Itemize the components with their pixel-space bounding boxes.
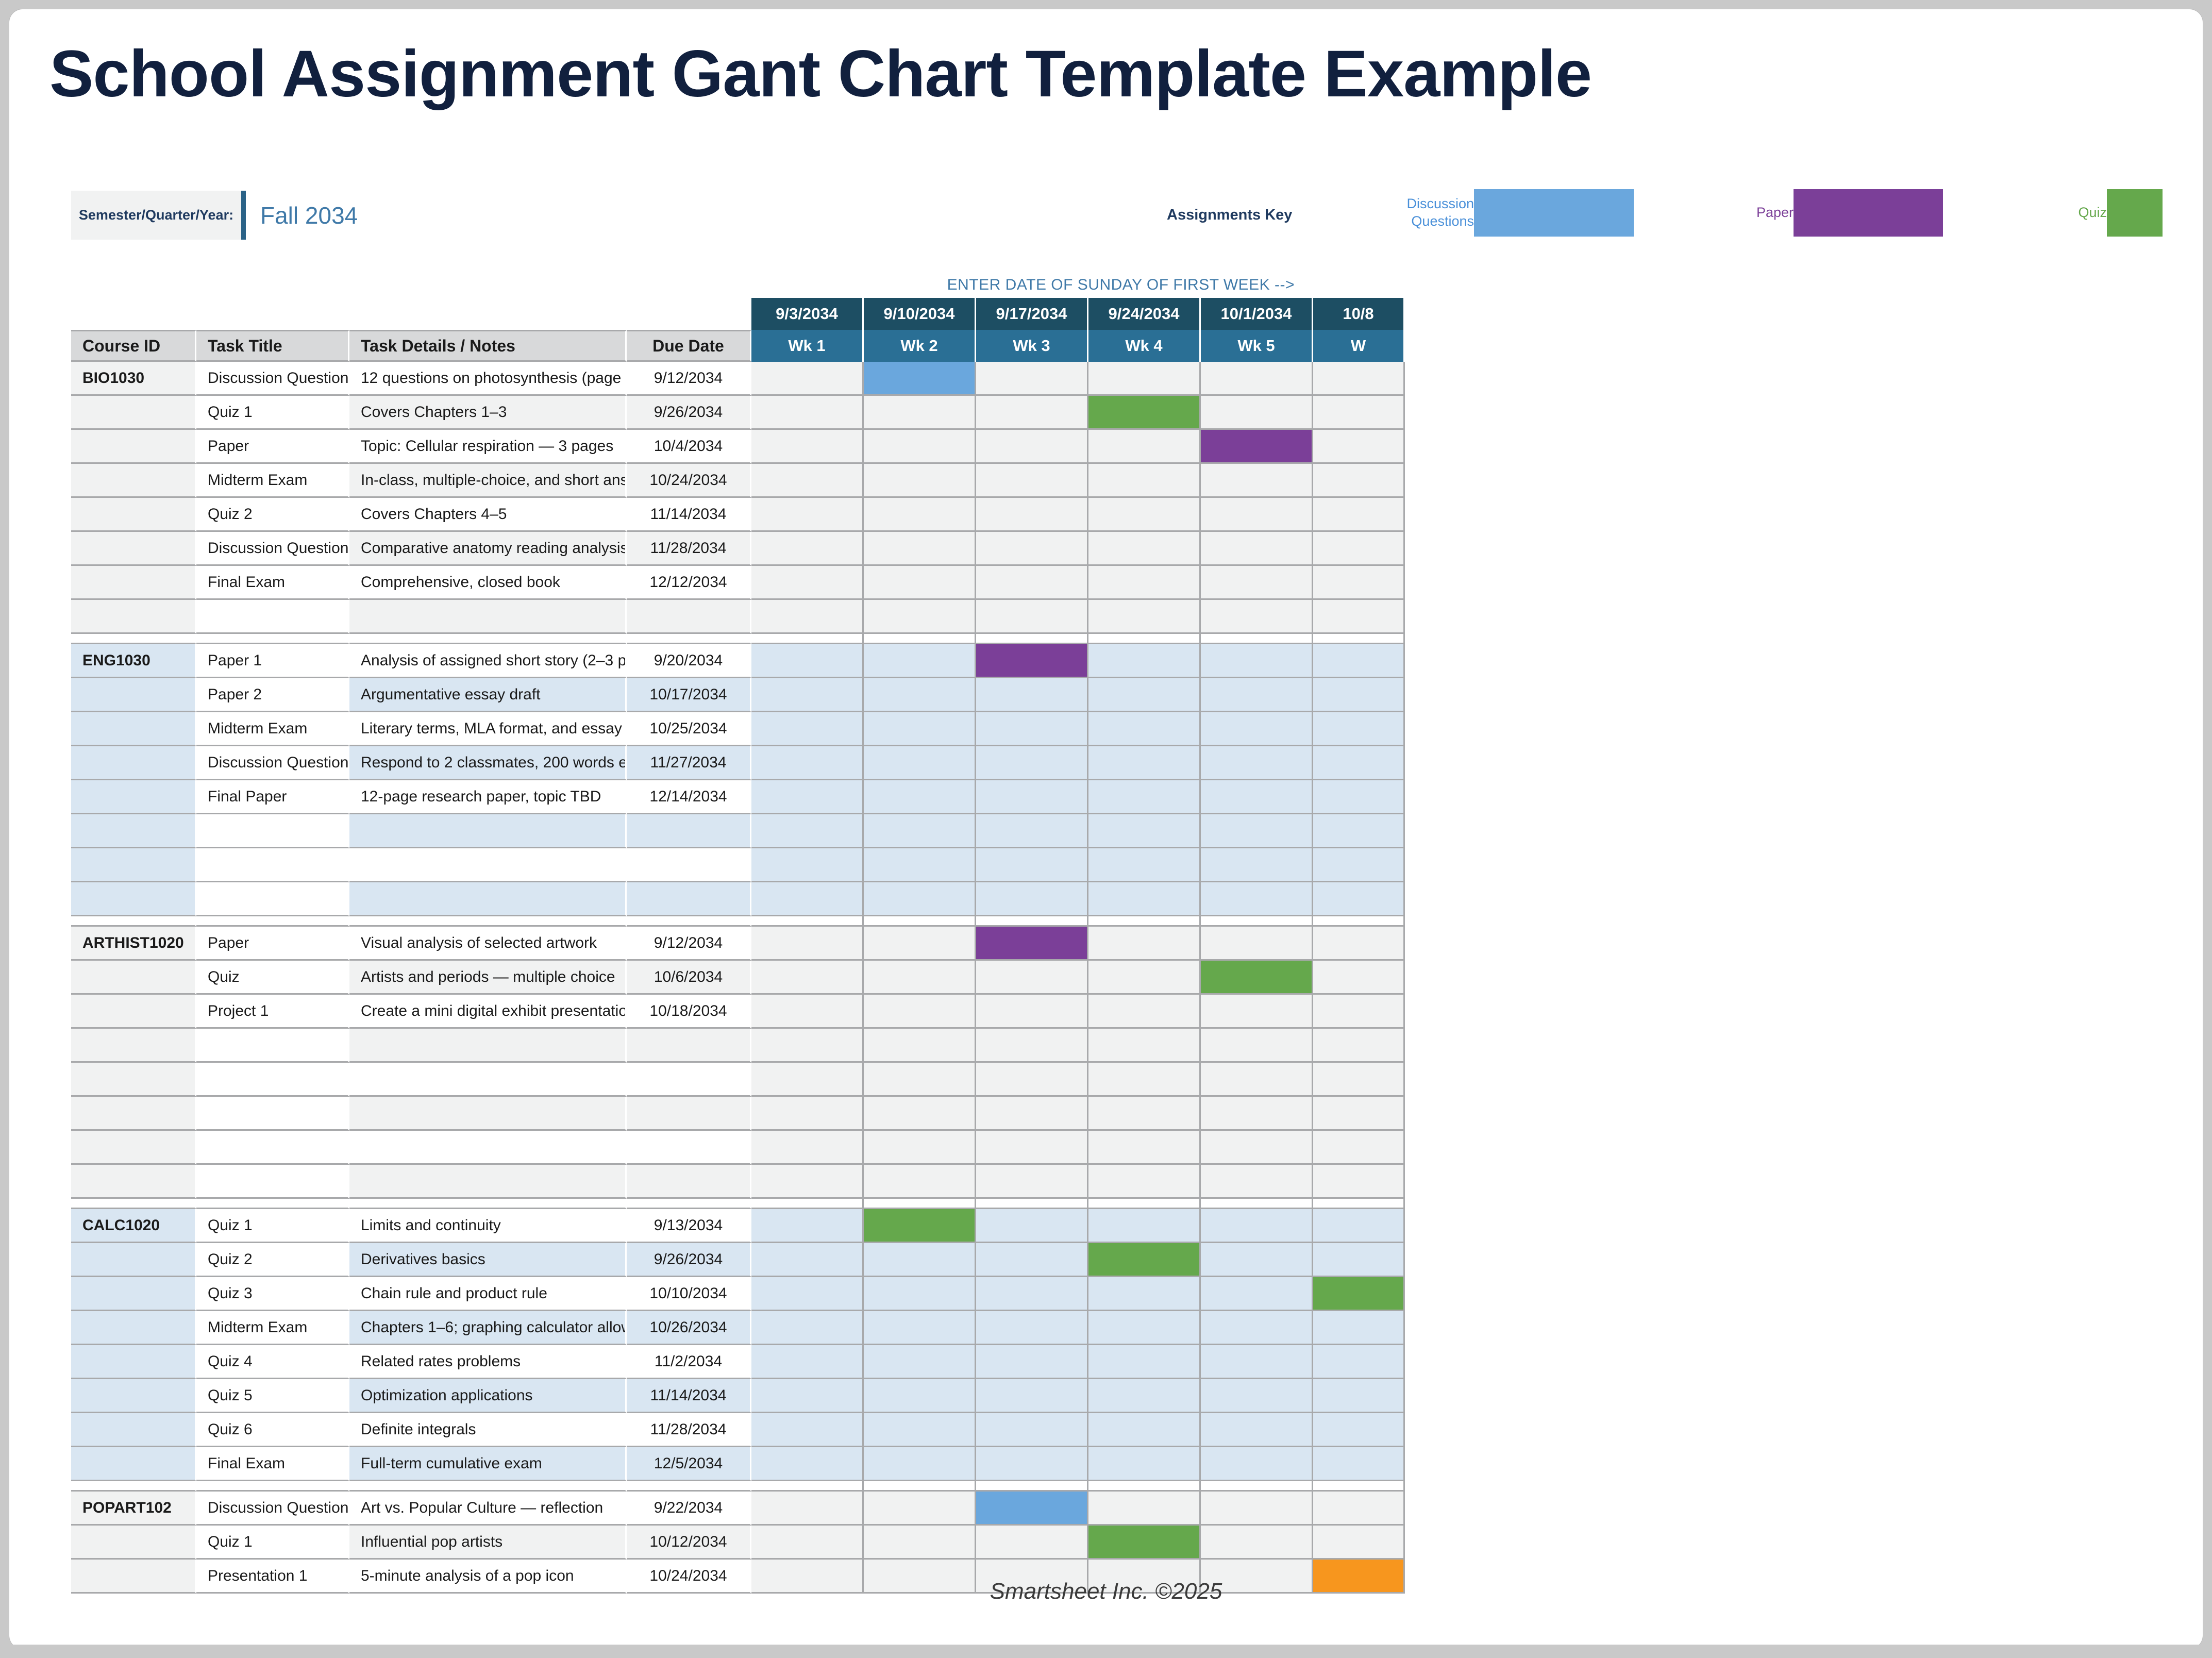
week-date-header: 10/8 bbox=[1313, 298, 1405, 330]
cell-course-id bbox=[71, 1447, 196, 1481]
gantt-cell bbox=[976, 1447, 1088, 1481]
page-bottom-bar bbox=[0, 1645, 2212, 1658]
gantt-cell bbox=[1313, 1345, 1405, 1379]
gantt-cell bbox=[1313, 1311, 1405, 1345]
gantt-cell bbox=[864, 780, 976, 814]
cell-course-id bbox=[71, 1029, 196, 1063]
table-row: POPART102Discussion QuestionsArt vs. Pop… bbox=[71, 1492, 2170, 1526]
gantt-cell bbox=[1088, 1063, 1201, 1097]
semester-label: Semester/Quarter/Year: bbox=[79, 207, 233, 223]
gantt-cell bbox=[864, 362, 976, 396]
cell-due-date: 11/2/2034 bbox=[627, 1345, 751, 1379]
gantt-cell bbox=[976, 362, 1088, 396]
legend-item-quiz: Quiz bbox=[2050, 185, 2163, 241]
group-separator bbox=[71, 1481, 2170, 1492]
gantt-cell bbox=[1313, 927, 1405, 961]
gantt-cell bbox=[1313, 1097, 1405, 1131]
cell-due-date: 9/13/2034 bbox=[627, 1209, 751, 1243]
gantt-cell bbox=[976, 995, 1088, 1029]
table-row: Paper 2Argumentative essay draft10/17/20… bbox=[71, 678, 2170, 712]
cell-due-date: 11/14/2034 bbox=[627, 498, 751, 532]
gantt-cell bbox=[1313, 1379, 1405, 1413]
table-row bbox=[71, 882, 2170, 916]
cell-due-date bbox=[627, 600, 751, 634]
gantt-cell bbox=[1201, 566, 1313, 600]
gantt-cell bbox=[1201, 1379, 1313, 1413]
cell-due-date: 10/10/2034 bbox=[627, 1277, 751, 1311]
gantt-cell bbox=[1201, 1243, 1313, 1277]
gantt-cell bbox=[1088, 712, 1201, 746]
week-number-header: Wk 1 bbox=[751, 330, 864, 362]
table-row: Final ExamFull-term cumulative exam12/5/… bbox=[71, 1447, 2170, 1481]
semester-value[interactable]: Fall 2034 bbox=[260, 191, 358, 240]
gantt-cell bbox=[864, 712, 976, 746]
gantt-cell bbox=[1201, 678, 1313, 712]
table-row: Discussion QuestionsComparative anatomy … bbox=[71, 532, 2170, 566]
table-row bbox=[71, 1165, 2170, 1199]
gantt-cell bbox=[1201, 1209, 1313, 1243]
cell-task-title bbox=[196, 1097, 349, 1131]
gantt-cell bbox=[864, 464, 976, 498]
cell-course-id: CALC1020 bbox=[71, 1209, 196, 1243]
cell-task-details bbox=[349, 1165, 627, 1199]
cell-due-date: 11/28/2034 bbox=[627, 532, 751, 566]
gantt-cell bbox=[864, 396, 976, 430]
cell-task-title: Paper 1 bbox=[196, 644, 349, 678]
gantt-cell bbox=[1201, 780, 1313, 814]
gantt-cell bbox=[1088, 1277, 1201, 1311]
gantt-cell bbox=[1201, 882, 1313, 916]
cell-course-id: POPART102 bbox=[71, 1492, 196, 1526]
gantt-cell bbox=[976, 1209, 1088, 1243]
gantt-cell bbox=[976, 678, 1088, 712]
cell-due-date bbox=[627, 1063, 751, 1097]
table-row: BIO1030Discussion Questions12 questions … bbox=[71, 362, 2170, 396]
gantt-cell bbox=[1088, 1379, 1201, 1413]
cell-task-details bbox=[349, 882, 627, 916]
gantt-bar-quiz bbox=[1088, 396, 1199, 428]
gantt-cell bbox=[1313, 678, 1405, 712]
cell-task-details bbox=[349, 1097, 627, 1131]
gantt-bar-paper bbox=[1201, 430, 1312, 462]
gantt-cell bbox=[864, 566, 976, 600]
gantt-cell bbox=[1313, 746, 1405, 780]
gantt-cell bbox=[751, 961, 864, 995]
legend-swatch-quiz bbox=[2107, 189, 2163, 237]
gantt-cell bbox=[751, 1131, 864, 1165]
cell-due-date: 10/6/2034 bbox=[627, 961, 751, 995]
gantt-cell bbox=[1313, 1029, 1405, 1063]
gantt-cell bbox=[1088, 1447, 1201, 1481]
cell-task-details: Respond to 2 classmates, 200 words each bbox=[349, 746, 627, 780]
gantt-cell bbox=[864, 1526, 976, 1560]
gantt-cell bbox=[1201, 430, 1313, 464]
column-header-course-id: Course ID bbox=[71, 330, 196, 362]
week-date-header: 9/10/2034 bbox=[864, 298, 976, 330]
cell-due-date bbox=[627, 1029, 751, 1063]
cell-course-id bbox=[71, 814, 196, 848]
gantt-cell bbox=[864, 678, 976, 712]
gantt-cell bbox=[1201, 995, 1313, 1029]
cell-task-title: Quiz 2 bbox=[196, 1243, 349, 1277]
page-title: School Assignment Gant Chart Template Ex… bbox=[49, 36, 1591, 112]
gantt-cell bbox=[1313, 1413, 1405, 1447]
gantt-cell bbox=[976, 1131, 1088, 1165]
gantt-cell bbox=[751, 1277, 864, 1311]
cell-task-title: Paper 2 bbox=[196, 678, 349, 712]
cell-task-title: Paper bbox=[196, 927, 349, 961]
gantt-cell bbox=[1201, 1447, 1313, 1481]
cell-course-id bbox=[71, 1097, 196, 1131]
gantt-cell bbox=[1088, 644, 1201, 678]
cell-task-title: Discussion Questions bbox=[196, 362, 349, 396]
gantt-cell bbox=[1313, 644, 1405, 678]
gantt-cell bbox=[1313, 498, 1405, 532]
cell-task-details: Topic: Cellular respiration — 3 pages bbox=[349, 430, 627, 464]
gantt-cell bbox=[1313, 1492, 1405, 1526]
gantt-cell bbox=[864, 848, 976, 882]
gantt-cell bbox=[751, 1526, 864, 1560]
cell-course-id bbox=[71, 780, 196, 814]
cell-due-date: 10/24/2034 bbox=[627, 464, 751, 498]
gantt-cell bbox=[1201, 1029, 1313, 1063]
gantt-cell bbox=[1088, 927, 1201, 961]
gantt-cell bbox=[751, 678, 864, 712]
cell-course-id bbox=[71, 1277, 196, 1311]
cell-task-title: Final Exam bbox=[196, 566, 349, 600]
gantt-cell bbox=[1201, 1097, 1313, 1131]
gantt-cell bbox=[1313, 814, 1405, 848]
gantt-cell bbox=[751, 1492, 864, 1526]
gantt-cell bbox=[1313, 1277, 1405, 1311]
cell-task-details: Limits and continuity bbox=[349, 1209, 627, 1243]
gantt-cell bbox=[976, 1277, 1088, 1311]
cell-due-date bbox=[627, 848, 751, 882]
cell-task-title: Quiz 3 bbox=[196, 1277, 349, 1311]
cell-due-date: 12/14/2034 bbox=[627, 780, 751, 814]
gantt-cell bbox=[976, 1097, 1088, 1131]
cell-task-details: Related rates problems bbox=[349, 1345, 627, 1379]
gantt-cell bbox=[864, 1097, 976, 1131]
gantt-cell bbox=[976, 1165, 1088, 1199]
cell-task-details: Full-term cumulative exam bbox=[349, 1447, 627, 1481]
cell-task-details: Analysis of assigned short story (2–3 pa… bbox=[349, 644, 627, 678]
cell-due-date: 11/27/2034 bbox=[627, 746, 751, 780]
table-row: Quiz 2Covers Chapters 4–511/14/2034 bbox=[71, 498, 2170, 532]
table-row bbox=[71, 848, 2170, 882]
cell-task-details: Optimization applications bbox=[349, 1379, 627, 1413]
gantt-cell bbox=[1313, 848, 1405, 882]
gantt-bar-quiz bbox=[1088, 1243, 1199, 1276]
gantt-cell bbox=[1088, 498, 1201, 532]
gantt-cell bbox=[864, 532, 976, 566]
gantt-cell bbox=[1201, 1413, 1313, 1447]
gantt-cell bbox=[976, 1379, 1088, 1413]
table-row: Discussion QuestionsRespond to 2 classma… bbox=[71, 746, 2170, 780]
cell-task-details: Definite integrals bbox=[349, 1413, 627, 1447]
table-row bbox=[71, 1029, 2170, 1063]
gantt-cell bbox=[976, 1243, 1088, 1277]
cell-task-details: Art vs. Popular Culture — reflection bbox=[349, 1492, 627, 1526]
table-row: Quiz 6Definite integrals11/28/2034 bbox=[71, 1413, 2170, 1447]
cell-course-id bbox=[71, 396, 196, 430]
gantt-cell bbox=[751, 1447, 864, 1481]
footer-credit: Smartsheet Inc. ©2025 bbox=[9, 1579, 2203, 1604]
gantt-cell bbox=[1088, 1243, 1201, 1277]
gantt-cell bbox=[1088, 961, 1201, 995]
legend-label: Discussion Questions bbox=[1376, 195, 1474, 230]
gantt-cell bbox=[976, 566, 1088, 600]
cell-task-title: Discussion Questions bbox=[196, 746, 349, 780]
cell-course-id bbox=[71, 1526, 196, 1560]
legend-label: Paper bbox=[1716, 204, 1794, 222]
cell-task-title: Midterm Exam bbox=[196, 712, 349, 746]
gantt-cell bbox=[1088, 1097, 1201, 1131]
gantt-cell bbox=[751, 464, 864, 498]
gantt-cell bbox=[751, 396, 864, 430]
cell-task-title: Quiz 1 bbox=[196, 1209, 349, 1243]
cell-task-details bbox=[349, 1131, 627, 1165]
cell-course-id bbox=[71, 532, 196, 566]
legend-item-discussion-questions: Discussion Questions bbox=[1376, 185, 1634, 241]
cell-task-title bbox=[196, 600, 349, 634]
cell-task-details: Covers Chapters 4–5 bbox=[349, 498, 627, 532]
cell-course-id bbox=[71, 1243, 196, 1277]
gantt-cell bbox=[864, 1311, 976, 1345]
table-row: ARTHIST1020PaperVisual analysis of selec… bbox=[71, 927, 2170, 961]
cell-course-id bbox=[71, 746, 196, 780]
gantt-cell bbox=[976, 1345, 1088, 1379]
cell-task-title: Quiz 1 bbox=[196, 396, 349, 430]
gantt-cell bbox=[864, 746, 976, 780]
cell-due-date: 10/12/2034 bbox=[627, 1526, 751, 1560]
gantt-cell bbox=[751, 1379, 864, 1413]
cell-task-details: Chapters 1–6; graphing calculator allowe… bbox=[349, 1311, 627, 1345]
gantt-cell bbox=[864, 600, 976, 634]
table-row bbox=[71, 600, 2170, 634]
cell-due-date: 9/12/2034 bbox=[627, 362, 751, 396]
cell-task-title bbox=[196, 1131, 349, 1165]
gantt-cell bbox=[1088, 1413, 1201, 1447]
week-number-header: Wk 5 bbox=[1201, 330, 1313, 362]
table-row bbox=[71, 1063, 2170, 1097]
gantt-cell bbox=[1088, 362, 1201, 396]
table-row bbox=[71, 1131, 2170, 1165]
gantt-cell bbox=[1201, 1311, 1313, 1345]
gantt-cell bbox=[1088, 848, 1201, 882]
cell-task-title: Final Paper bbox=[196, 780, 349, 814]
cell-task-title bbox=[196, 1029, 349, 1063]
gantt-cell bbox=[1313, 566, 1405, 600]
gantt-cell bbox=[1088, 566, 1201, 600]
gantt-cell bbox=[1088, 814, 1201, 848]
legend-item-paper: Paper bbox=[1716, 185, 1943, 241]
week-number-header: W bbox=[1313, 330, 1405, 362]
cell-course-id bbox=[71, 712, 196, 746]
gantt-cell bbox=[751, 712, 864, 746]
gantt-cell bbox=[1088, 396, 1201, 430]
cell-due-date: 9/26/2034 bbox=[627, 396, 751, 430]
gantt-cell bbox=[751, 600, 864, 634]
cell-task-title: Project 1 bbox=[196, 995, 349, 1029]
gantt-cell bbox=[1313, 532, 1405, 566]
gantt-cell bbox=[1088, 464, 1201, 498]
gantt-cell bbox=[1313, 712, 1405, 746]
gantt-cell bbox=[1313, 1526, 1405, 1560]
cell-course-id: ENG1030 bbox=[71, 644, 196, 678]
gantt-cell bbox=[864, 1243, 976, 1277]
column-header-task-details: Task Details / Notes bbox=[349, 330, 627, 362]
gantt-cell bbox=[976, 814, 1088, 848]
cell-task-details: Visual analysis of selected artwork bbox=[349, 927, 627, 961]
gantt-cell bbox=[1201, 814, 1313, 848]
gantt-cell bbox=[1201, 1526, 1313, 1560]
gantt-cell bbox=[1313, 600, 1405, 634]
cell-course-id bbox=[71, 882, 196, 916]
cell-course-id bbox=[71, 464, 196, 498]
gantt-cell bbox=[976, 780, 1088, 814]
gantt-cell bbox=[1201, 848, 1313, 882]
gantt-cell bbox=[1313, 1209, 1405, 1243]
cell-course-id bbox=[71, 1345, 196, 1379]
cell-task-title: Quiz 2 bbox=[196, 498, 349, 532]
cell-task-details bbox=[349, 1029, 627, 1063]
group-separator bbox=[71, 1199, 2170, 1209]
table-row: Midterm ExamIn-class, multiple-choice, a… bbox=[71, 464, 2170, 498]
cell-due-date: 9/20/2034 bbox=[627, 644, 751, 678]
cell-task-details: 12 questions on photosynthesis (page 186… bbox=[349, 362, 627, 396]
gantt-cell bbox=[864, 1209, 976, 1243]
cell-task-details bbox=[349, 848, 627, 882]
table-row: Quiz 2Derivatives basics9/26/2034 bbox=[71, 1243, 2170, 1277]
week-date-header: 9/3/2034 bbox=[751, 298, 864, 330]
gantt-cell bbox=[751, 1097, 864, 1131]
gantt-cell bbox=[864, 498, 976, 532]
gantt-cell bbox=[864, 1029, 976, 1063]
gantt-cell bbox=[1201, 712, 1313, 746]
gantt-cell bbox=[1088, 1029, 1201, 1063]
cell-course-id bbox=[71, 1165, 196, 1199]
table-row: QuizArtists and periods — multiple choic… bbox=[71, 961, 2170, 995]
cell-due-date bbox=[627, 1165, 751, 1199]
gantt-cell bbox=[751, 498, 864, 532]
gantt-cell bbox=[751, 1029, 864, 1063]
gantt-cell bbox=[751, 882, 864, 916]
gantt-cell bbox=[1088, 1526, 1201, 1560]
gantt-cell bbox=[864, 882, 976, 916]
gantt-cell bbox=[1201, 532, 1313, 566]
gantt-cell bbox=[1313, 1063, 1405, 1097]
gantt-cell bbox=[1201, 1165, 1313, 1199]
cell-course-id bbox=[71, 995, 196, 1029]
gantt-cell bbox=[751, 1243, 864, 1277]
week-date-header: 9/17/2034 bbox=[976, 298, 1088, 330]
gantt-cell bbox=[976, 464, 1088, 498]
gantt-cell bbox=[976, 644, 1088, 678]
cell-task-details: Literary terms, MLA format, and essay qu… bbox=[349, 712, 627, 746]
gantt-cell bbox=[976, 1063, 1088, 1097]
week-date-header: 10/1/2034 bbox=[1201, 298, 1313, 330]
cell-due-date: 11/28/2034 bbox=[627, 1413, 751, 1447]
gantt-cell bbox=[976, 961, 1088, 995]
gantt-cell bbox=[751, 746, 864, 780]
table-row: ENG1030Paper 1Analysis of assigned short… bbox=[71, 644, 2170, 678]
gantt-cell bbox=[751, 927, 864, 961]
cell-course-id: BIO1030 bbox=[71, 362, 196, 396]
cell-task-details: Influential pop artists bbox=[349, 1526, 627, 1560]
gantt-grid: 9/3/20349/10/20349/17/20349/24/203410/1/… bbox=[71, 298, 2170, 1594]
gantt-cell bbox=[751, 995, 864, 1029]
cell-course-id bbox=[71, 600, 196, 634]
cell-course-id bbox=[71, 430, 196, 464]
cell-task-title: Quiz 5 bbox=[196, 1379, 349, 1413]
gantt-cell bbox=[864, 1379, 976, 1413]
cell-task-title: Quiz 4 bbox=[196, 1345, 349, 1379]
cell-task-title bbox=[196, 814, 349, 848]
cell-task-title: Paper bbox=[196, 430, 349, 464]
cell-course-id bbox=[71, 678, 196, 712]
cell-task-details: Artists and periods — multiple choice bbox=[349, 961, 627, 995]
gantt-cell bbox=[1201, 1063, 1313, 1097]
cell-due-date: 12/12/2034 bbox=[627, 566, 751, 600]
cell-task-title: Discussion Questions bbox=[196, 532, 349, 566]
gantt-cell bbox=[1201, 1131, 1313, 1165]
table-row bbox=[71, 1097, 2170, 1131]
week-number-header: Wk 3 bbox=[976, 330, 1088, 362]
cell-task-title bbox=[196, 882, 349, 916]
table-row: Quiz 4Related rates problems11/2/2034 bbox=[71, 1345, 2170, 1379]
gantt-cell bbox=[1313, 1243, 1405, 1277]
gantt-cell bbox=[1201, 464, 1313, 498]
gantt-cell bbox=[976, 498, 1088, 532]
gantt-cell bbox=[1313, 430, 1405, 464]
gantt-cell bbox=[751, 1209, 864, 1243]
gantt-cell bbox=[864, 1492, 976, 1526]
cell-task-title bbox=[196, 1165, 349, 1199]
document-page: School Assignment Gant Chart Template Ex… bbox=[9, 9, 2203, 1649]
gantt-cell bbox=[1088, 600, 1201, 634]
cell-task-details: Argumentative essay draft bbox=[349, 678, 627, 712]
gantt-cell bbox=[976, 746, 1088, 780]
gantt-cell bbox=[976, 1526, 1088, 1560]
gantt-cell bbox=[1201, 498, 1313, 532]
gantt-cell bbox=[1313, 1131, 1405, 1165]
cell-due-date: 9/22/2034 bbox=[627, 1492, 751, 1526]
legend-label: Quiz bbox=[2050, 204, 2107, 222]
cell-task-title: Quiz bbox=[196, 961, 349, 995]
table-row: Midterm ExamLiterary terms, MLA format, … bbox=[71, 712, 2170, 746]
legend-swatch-paper bbox=[1794, 189, 1943, 237]
gantt-cell bbox=[976, 396, 1088, 430]
gantt-cell bbox=[1088, 532, 1201, 566]
gantt-cell bbox=[1313, 1165, 1405, 1199]
gantt-cell bbox=[1313, 396, 1405, 430]
column-header-due-date: Due Date bbox=[627, 330, 751, 362]
gantt-cell bbox=[976, 882, 1088, 916]
gantt-cell bbox=[1201, 644, 1313, 678]
table-row bbox=[71, 814, 2170, 848]
cell-task-title: Final Exam bbox=[196, 1447, 349, 1481]
gantt-cell bbox=[1088, 1311, 1201, 1345]
table-row: CALC1020Quiz 1Limits and continuity9/13/… bbox=[71, 1209, 2170, 1243]
gantt-cell bbox=[1313, 780, 1405, 814]
gantt-cell bbox=[864, 1131, 976, 1165]
gantt-cell bbox=[864, 644, 976, 678]
gantt-cell bbox=[1088, 430, 1201, 464]
gantt-bar-discussion bbox=[976, 1492, 1087, 1524]
gantt-cell bbox=[1088, 1131, 1201, 1165]
gantt-cell bbox=[1201, 600, 1313, 634]
